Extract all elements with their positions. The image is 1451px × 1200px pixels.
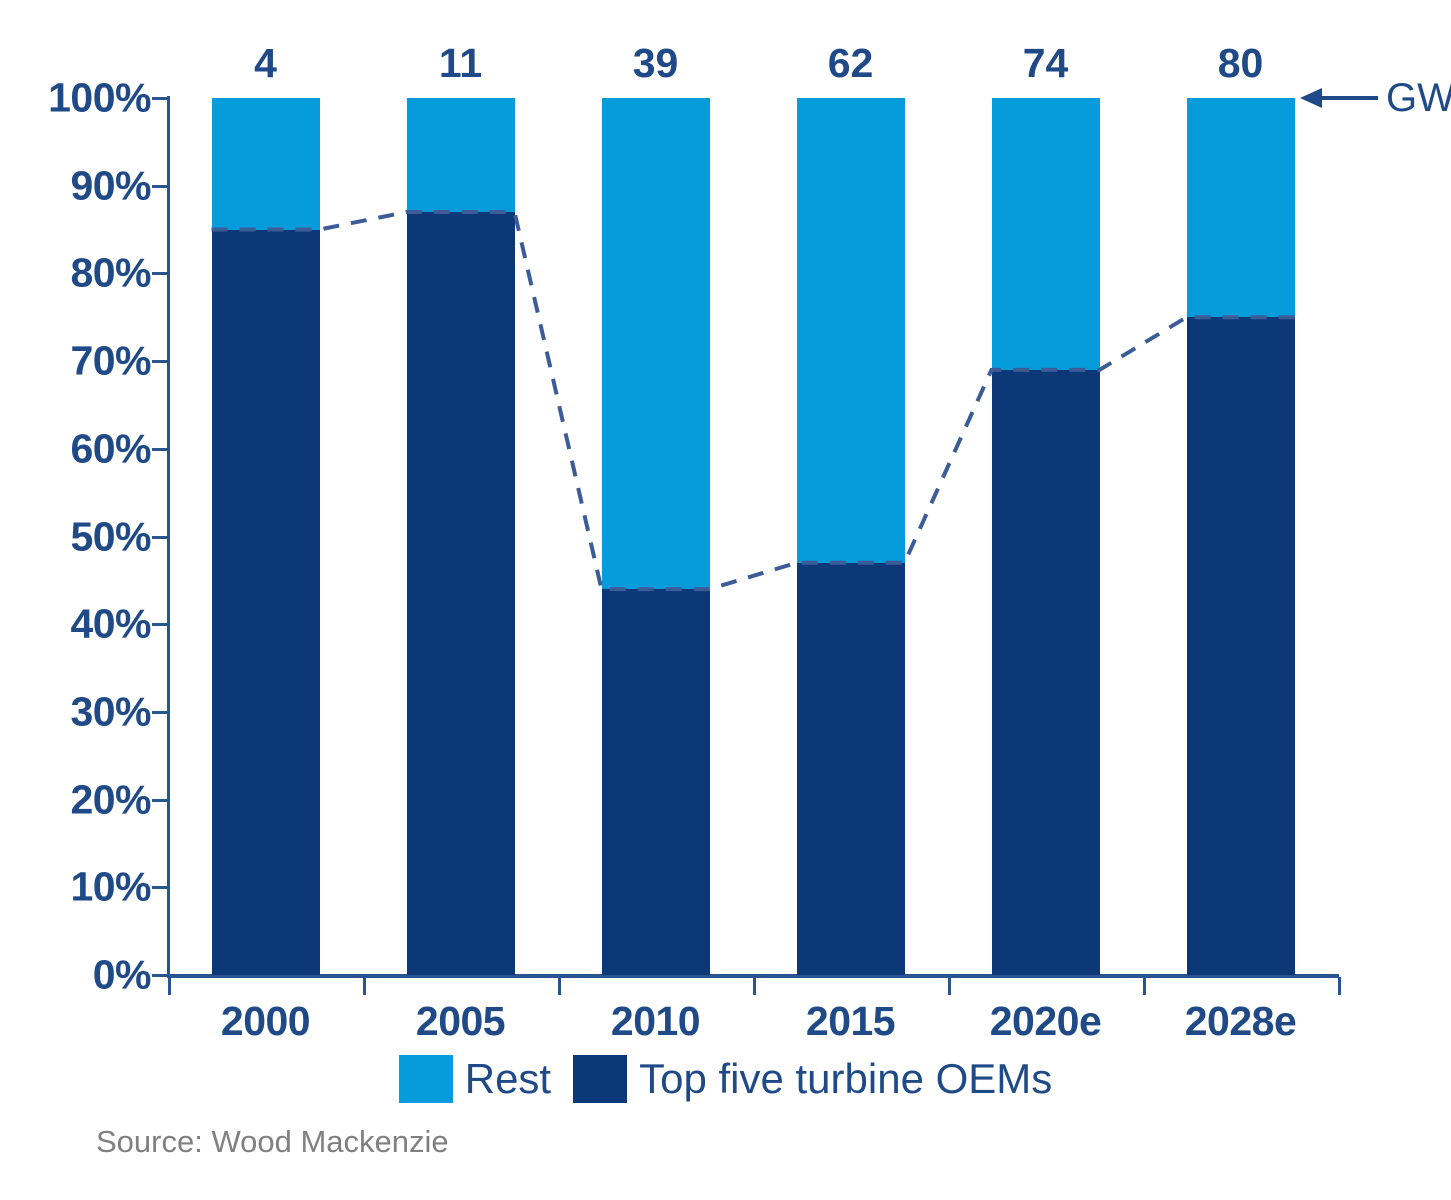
y-axis-tick [152,711,168,714]
bar-segment-top-five-turbine-oems[interactable] [1187,317,1295,975]
y-axis-tick-label: 20% [0,776,151,823]
y-axis-tick [152,360,168,363]
gw-annotation: GW [1300,74,1451,122]
bar-group[interactable] [602,98,710,975]
chart-root: 0%10%20%30%40%50%60%70%80%90%100% 200020… [0,0,1451,1200]
x-axis-tick [1143,977,1146,995]
y-axis-tick [152,448,168,451]
x-axis-tick [168,977,171,995]
bar-total-label: 80 [1218,40,1264,87]
y-axis-tick [152,97,168,100]
bar-segment-rest[interactable] [797,98,905,563]
x-axis-tick-label: 2005 [416,998,505,1045]
legend-item[interactable]: Rest [399,1055,551,1103]
y-axis-tick-label: 40% [0,601,151,648]
bar-group[interactable] [212,98,320,975]
y-axis-tick [152,272,168,275]
bar-group[interactable] [1187,98,1295,975]
x-axis-tick-label: 2015 [806,998,895,1045]
source-note: Source: Wood Mackenzie [96,1124,449,1160]
legend-swatch [399,1055,453,1103]
y-axis-tick [152,623,168,626]
x-axis-tick [948,977,951,995]
bar-segment-rest[interactable] [992,98,1100,370]
legend-item[interactable]: Top five turbine OEMs [573,1055,1052,1103]
y-axis-tick-label: 0% [0,952,151,999]
bar-segment-rest[interactable] [212,98,320,230]
gw-label: GW [1386,76,1451,121]
legend-label: Rest [465,1055,551,1103]
legend-label: Top five turbine OEMs [639,1055,1052,1103]
bar-segment-rest[interactable] [407,98,515,212]
bar-total-label: 62 [828,40,874,87]
x-axis-tick-label: 2028e [1185,998,1297,1045]
bar-total-label: 39 [633,40,679,87]
bar-group[interactable] [797,98,905,975]
bar-total-label: 74 [1023,40,1069,87]
x-axis-tick [753,977,756,995]
y-axis-tick-label: 30% [0,688,151,735]
y-axis-tick [152,886,168,889]
chart-legend: RestTop five turbine OEMs [0,1055,1451,1103]
y-axis-tick-label: 10% [0,864,151,911]
x-axis-tick [558,977,561,995]
bar-segment-rest[interactable] [602,98,710,589]
y-axis-tick [152,799,168,802]
y-axis-tick-label: 100% [0,75,151,122]
x-axis-tick-label: 2010 [611,998,700,1045]
bar-segment-top-five-turbine-oems[interactable] [602,589,710,975]
y-axis-tick-label: 60% [0,425,151,472]
y-axis-tick-label: 70% [0,338,151,385]
bar-segment-top-five-turbine-oems[interactable] [797,563,905,975]
arrow-left-icon [1300,85,1378,111]
y-axis-tick-label: 90% [0,162,151,209]
bar-total-label: 4 [254,40,277,87]
y-axis-tick-label: 50% [0,513,151,560]
x-axis-tick [363,977,366,995]
x-axis-tick [1338,977,1341,995]
bar-group[interactable] [992,98,1100,975]
bar-segment-top-five-turbine-oems[interactable] [407,212,515,975]
bar-segment-rest[interactable] [1187,98,1295,317]
bar-group[interactable] [407,98,515,975]
bar-segment-top-five-turbine-oems[interactable] [992,370,1100,975]
x-axis-tick-label: 2000 [221,998,310,1045]
legend-swatch [573,1055,627,1103]
y-axis-tick [152,536,168,539]
bar-total-label: 11 [439,40,482,87]
x-axis-tick-label: 2020e [990,998,1102,1045]
y-axis-tick [152,974,168,977]
bar-segment-top-five-turbine-oems[interactable] [212,230,320,975]
y-axis-tick-label: 80% [0,250,151,297]
y-axis-tick [152,185,168,188]
